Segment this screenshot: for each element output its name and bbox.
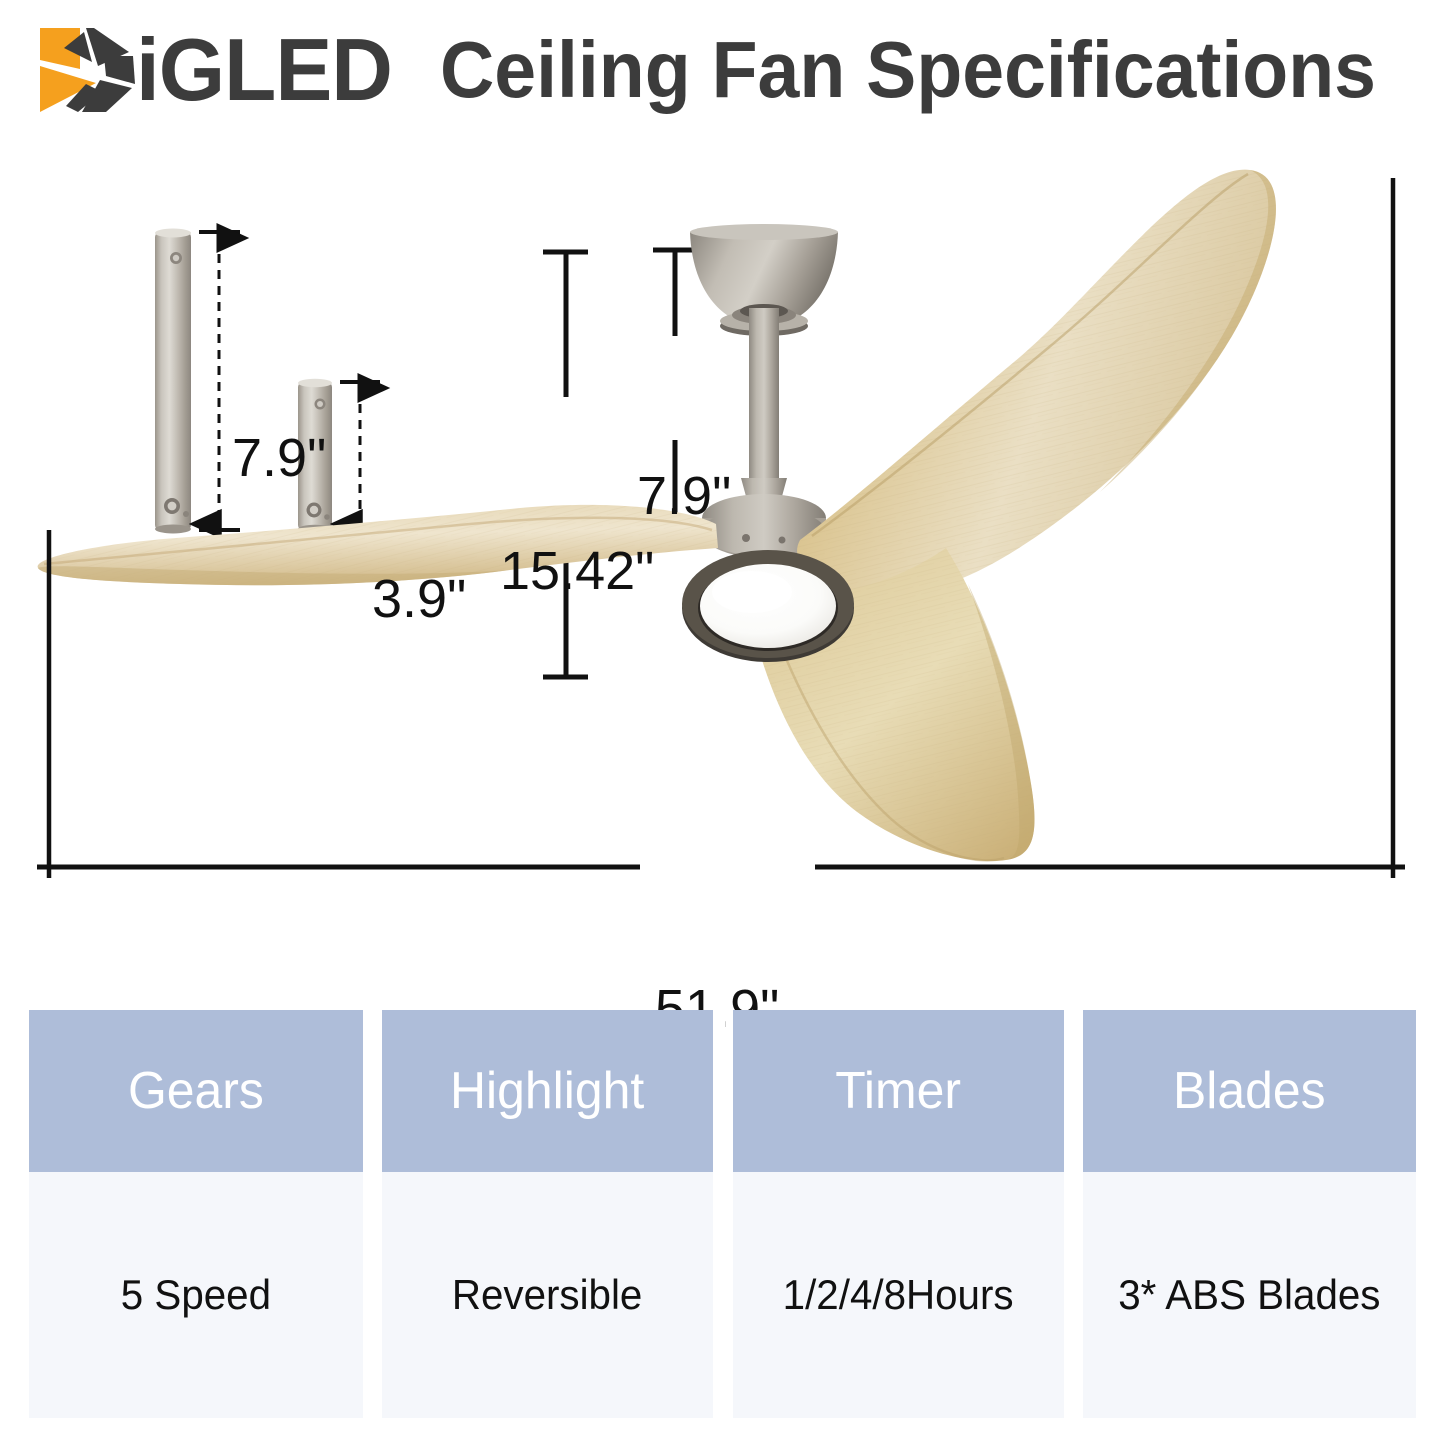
downrod-installed xyxy=(741,308,787,500)
dimension-label-total-height: 15.42" xyxy=(500,540,654,602)
brand-name: iGLED xyxy=(136,26,392,114)
aperture-d-logo-icon xyxy=(34,22,140,118)
cell-blades-value: 3* ABS Blades xyxy=(1080,1172,1416,1418)
dimension-total-height xyxy=(543,252,588,677)
downrod-long xyxy=(155,229,191,534)
cell-highlight-value: Reversible xyxy=(379,1172,715,1418)
column-header-gears: Gears xyxy=(29,1010,365,1172)
page-header: iGLED Ceiling Fan Specifications xyxy=(0,0,1445,140)
fan-blade-upper-right xyxy=(797,170,1276,599)
table-row: 5 Speed Reversible 1/2/4/8Hours 3* ABS B… xyxy=(22,1172,1423,1418)
ceiling-fan-spec-table: Gears Highlight Timer Blades 5 Speed Rev… xyxy=(22,1010,1423,1418)
dimension-label-downrod-short: 3.9" xyxy=(372,568,466,630)
cell-gears-value: 5 Speed xyxy=(29,1172,365,1418)
led-light-kit xyxy=(682,550,854,662)
ceiling-fan-dimension-diagram: 7.9" 3.9" 15.42" 7.9" 51.9" xyxy=(0,140,1445,970)
table-header-row: Gears Highlight Timer Blades xyxy=(22,1010,1423,1172)
column-header-blades: Blades xyxy=(1080,1010,1416,1172)
dimension-label-downrod-long: 7.9" xyxy=(232,427,326,489)
dimension-label-canopy-height: 7.9" xyxy=(637,465,731,527)
dimension-downrod-short xyxy=(340,382,380,530)
page-title: Ceiling Fan Specifications xyxy=(440,30,1376,110)
cell-timer-value: 1/2/4/8Hours xyxy=(730,1172,1066,1418)
column-header-highlight: Highlight xyxy=(379,1010,715,1172)
column-header-timer: Timer xyxy=(730,1010,1066,1172)
